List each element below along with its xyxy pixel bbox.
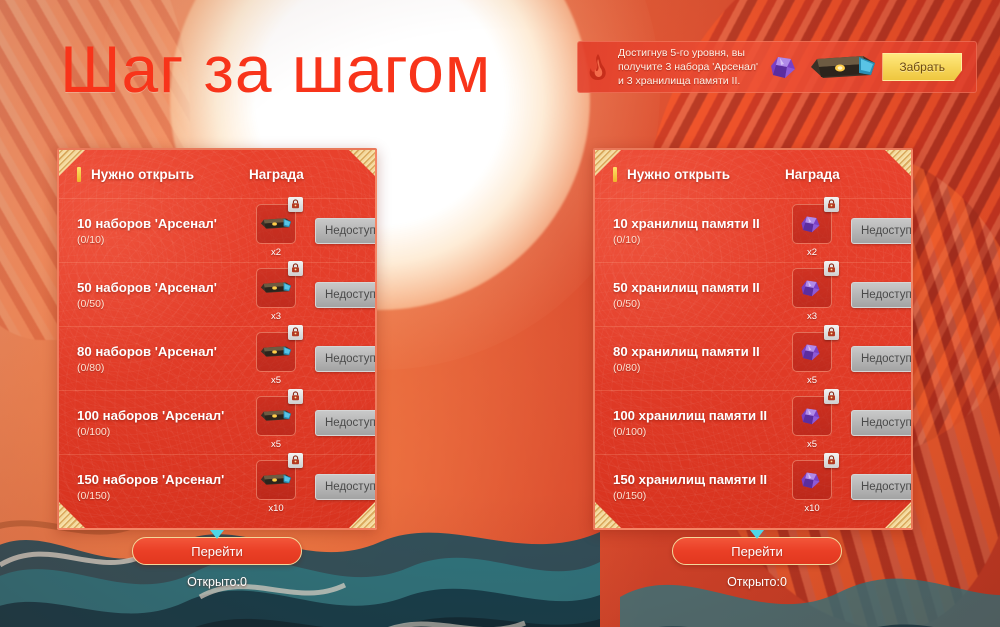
- reward-cell[interactable]: x5: [785, 332, 839, 386]
- reward-count: x10: [804, 503, 819, 514]
- reward-slot[interactable]: [792, 204, 832, 244]
- memory-crystal-icon: [797, 339, 827, 365]
- unavailable-button[interactable]: Недоступно: [851, 410, 913, 436]
- banner-reward-icons: [762, 41, 882, 93]
- row-title: 50 наборов 'Арсенал': [77, 280, 249, 296]
- panel-memory-storage-footer: Перейти Открыто:0: [672, 537, 842, 589]
- header-accent-bar: [77, 167, 81, 182]
- column-header-need: Нужно открыть: [91, 167, 194, 182]
- row-progress: (0/100): [613, 426, 785, 438]
- row-text: 50 наборов 'Арсенал' (0/50): [77, 280, 249, 310]
- table-row: 150 наборов 'Арсенал' (0/150): [59, 454, 375, 518]
- game-event-screen: Шаг за шагом Достигнув 5-го уровня, вы п…: [0, 0, 1000, 627]
- row-text: 80 хранилищ памяти II (0/80): [613, 344, 785, 374]
- reward-cell[interactable]: x5: [785, 396, 839, 450]
- reward-slot[interactable]: [256, 396, 296, 436]
- row-progress: (0/10): [77, 234, 249, 246]
- reward-cell[interactable]: x3: [249, 268, 303, 322]
- row-text: 10 хранилищ памяти II (0/10): [613, 216, 785, 246]
- lock-icon: [824, 389, 839, 404]
- reward-count: x2: [807, 247, 817, 258]
- reward-count: x3: [271, 311, 281, 322]
- lock-icon: [824, 453, 839, 468]
- claim-button[interactable]: Забрать: [882, 53, 962, 81]
- reward-rows: 10 хранилищ памяти II (0/10): [595, 198, 911, 518]
- memory-crystal-icon: [797, 467, 827, 493]
- page-title: Шаг за шагом: [60, 36, 491, 102]
- reward-slot[interactable]: [792, 332, 832, 372]
- row-progress: (0/50): [77, 298, 249, 310]
- row-progress: (0/80): [77, 362, 249, 374]
- row-title: 100 хранилищ памяти II: [613, 408, 785, 424]
- reward-cell[interactable]: x5: [249, 396, 303, 450]
- lock-icon: [824, 261, 839, 276]
- panel-memory-storage: Нужно открыть Награда 10 хранилищ памяти…: [593, 148, 913, 530]
- row-progress: (0/100): [77, 426, 249, 438]
- unavailable-button[interactable]: Недоступно: [315, 282, 377, 308]
- table-row: 150 хранилищ памяти II (0/150): [595, 454, 911, 518]
- reward-count: x10: [268, 503, 283, 514]
- memory-crystal-icon: [765, 50, 805, 84]
- table-row: 50 хранилищ памяти II (0/50): [595, 262, 911, 326]
- panel-arsenal: Нужно открыть Награда 10 наборов 'Арсена…: [57, 148, 377, 530]
- reward-slot[interactable]: [792, 396, 832, 436]
- row-progress: (0/50): [613, 298, 785, 310]
- table-row: 80 хранилищ памяти II (0/80): [595, 326, 911, 390]
- unavailable-button[interactable]: Недоступно: [315, 474, 377, 500]
- reward-count: x5: [807, 439, 817, 450]
- row-text: 10 наборов 'Арсенал' (0/10): [77, 216, 249, 246]
- reward-cell[interactable]: x2: [249, 204, 303, 258]
- row-text: 80 наборов 'Арсенал' (0/80): [77, 344, 249, 374]
- row-text: 50 хранилищ памяти II (0/50): [613, 280, 785, 310]
- reward-count: x5: [271, 375, 281, 386]
- memory-crystal-icon: [797, 403, 827, 429]
- reward-rows: 10 наборов 'Арсенал' (0/10): [59, 198, 375, 518]
- phoenix-flame-icon: [578, 41, 618, 93]
- chevron-down-icon: [750, 530, 764, 539]
- arsenal-crate-icon: [259, 216, 293, 231]
- lock-icon: [288, 453, 303, 468]
- reward-slot[interactable]: [256, 268, 296, 308]
- unavailable-button[interactable]: Недоступно: [315, 410, 377, 436]
- lock-icon: [288, 261, 303, 276]
- goto-button[interactable]: Перейти: [132, 537, 302, 565]
- reward-slot[interactable]: [792, 460, 832, 500]
- row-progress: (0/150): [613, 490, 785, 502]
- reward-cell[interactable]: x3: [785, 268, 839, 322]
- banner-text: Достигнув 5-го уровня, вы получите 3 наб…: [618, 46, 762, 88]
- reward-slot[interactable]: [256, 332, 296, 372]
- lock-icon: [824, 197, 839, 212]
- chevron-down-icon: [210, 530, 224, 539]
- arsenal-crate-icon: [259, 472, 293, 487]
- row-text: 100 хранилищ памяти II (0/100): [613, 408, 785, 438]
- memory-crystal-icon: [797, 275, 827, 301]
- column-header-need: Нужно открыть: [627, 167, 730, 182]
- column-header-reward: Награда: [785, 167, 840, 182]
- table-row: 100 хранилищ памяти II (0/100): [595, 390, 911, 454]
- row-text: 100 наборов 'Арсенал' (0/100): [77, 408, 249, 438]
- row-title: 50 хранилищ памяти II: [613, 280, 785, 296]
- unavailable-button[interactable]: Недоступно: [315, 218, 377, 244]
- goto-button-label: Перейти: [731, 544, 783, 559]
- row-text: 150 наборов 'Арсенал' (0/150): [77, 472, 249, 502]
- column-header-reward: Награда: [249, 167, 304, 182]
- reward-cell[interactable]: x10: [785, 460, 839, 514]
- opened-count: Открыто:0: [672, 575, 842, 589]
- row-title: 100 наборов 'Арсенал': [77, 408, 249, 424]
- lock-icon: [824, 325, 839, 340]
- arsenal-crate-icon: [259, 280, 293, 295]
- unavailable-button[interactable]: Недоступно: [851, 474, 913, 500]
- reward-count: x5: [807, 375, 817, 386]
- arsenal-crate-icon: [259, 344, 293, 359]
- arsenal-crate-icon: [259, 408, 293, 423]
- lock-icon: [288, 325, 303, 340]
- level-reward-banner: Достигнув 5-го уровня, вы получите 3 наб…: [577, 41, 977, 93]
- table-row: 100 наборов 'Арсенал' (0/100): [59, 390, 375, 454]
- opened-count: Открыто:0: [132, 575, 302, 589]
- row-title: 10 наборов 'Арсенал': [77, 216, 249, 232]
- row-progress: (0/80): [613, 362, 785, 374]
- row-text: 150 хранилищ памяти II (0/150): [613, 472, 785, 502]
- unavailable-button[interactable]: Недоступно: [315, 346, 377, 372]
- unavailable-button[interactable]: Недоступно: [851, 218, 913, 244]
- table-row: 80 наборов 'Арсенал' (0/80): [59, 326, 375, 390]
- table-row: 50 наборов 'Арсенал' (0/50): [59, 262, 375, 326]
- row-progress: (0/10): [613, 234, 785, 246]
- panel-arsenal-footer: Перейти Открыто:0: [132, 537, 302, 589]
- lock-icon: [288, 389, 303, 404]
- row-title: 150 хранилищ памяти II: [613, 472, 785, 488]
- row-title: 80 наборов 'Арсенал': [77, 344, 249, 360]
- reward-count: x5: [271, 439, 281, 450]
- row-progress: (0/150): [77, 490, 249, 502]
- table-row: 10 хранилищ памяти II (0/10): [595, 198, 911, 262]
- arsenal-crate-icon: [807, 53, 879, 81]
- row-title: 150 наборов 'Арсенал': [77, 472, 249, 488]
- lock-icon: [288, 197, 303, 212]
- reward-cell[interactable]: x5: [249, 332, 303, 386]
- reward-count: x3: [807, 311, 817, 322]
- reward-slot[interactable]: [256, 460, 296, 500]
- reward-count: x2: [271, 247, 281, 258]
- reward-cell[interactable]: x10: [249, 460, 303, 514]
- panel-header: Нужно открыть Награда: [59, 150, 375, 198]
- goto-button-label: Перейти: [191, 544, 243, 559]
- unavailable-button[interactable]: Недоступно: [851, 346, 913, 372]
- table-row: 10 наборов 'Арсенал' (0/10): [59, 198, 375, 262]
- panel-header: Нужно открыть Награда: [595, 150, 911, 198]
- header-accent-bar: [613, 167, 617, 182]
- memory-crystal-icon: [797, 211, 827, 237]
- row-title: 80 хранилищ памяти II: [613, 344, 785, 360]
- unavailable-button[interactable]: Недоступно: [851, 282, 913, 308]
- reward-slot[interactable]: [792, 268, 832, 308]
- goto-button[interactable]: Перейти: [672, 537, 842, 565]
- row-title: 10 хранилищ памяти II: [613, 216, 785, 232]
- reward-cell[interactable]: x2: [785, 204, 839, 258]
- reward-slot[interactable]: [256, 204, 296, 244]
